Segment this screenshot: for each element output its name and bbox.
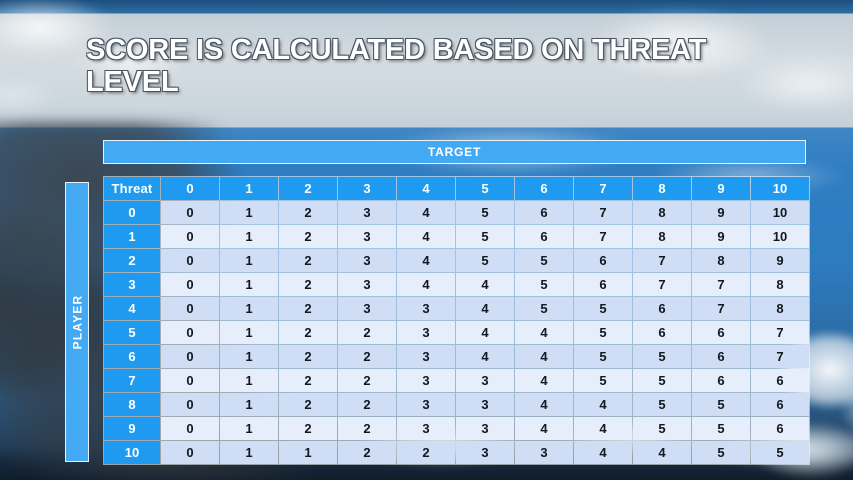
matrix-cell-4-6: 5 bbox=[515, 297, 573, 320]
matrix-cell-0-2: 2 bbox=[279, 201, 337, 224]
matrix-cell-9-1: 1 bbox=[220, 417, 278, 440]
matrix-cell-8-5: 3 bbox=[456, 393, 514, 416]
matrix-row-header-2: 2 bbox=[104, 249, 160, 272]
table-row: 301234456778 bbox=[104, 273, 809, 296]
matrix-cell-4-10: 8 bbox=[751, 297, 809, 320]
table-row: 601223445567 bbox=[104, 345, 809, 368]
matrix-cell-0-1: 1 bbox=[220, 201, 278, 224]
matrix-cell-4-0: 0 bbox=[161, 297, 219, 320]
matrix-cell-1-9: 9 bbox=[692, 225, 750, 248]
matrix-cell-8-0: 0 bbox=[161, 393, 219, 416]
matrix-column-header-1: 1 bbox=[220, 177, 278, 200]
matrix-cell-5-1: 1 bbox=[220, 321, 278, 344]
matrix-cell-10-1: 1 bbox=[220, 441, 278, 464]
matrix-cell-6-0: 0 bbox=[161, 345, 219, 368]
matrix-column-header-2: 2 bbox=[279, 177, 337, 200]
matrix-column-header-9: 9 bbox=[692, 177, 750, 200]
matrix-row-header-6: 6 bbox=[104, 345, 160, 368]
matrix-cell-6-4: 3 bbox=[397, 345, 455, 368]
matrix-cell-10-8: 4 bbox=[633, 441, 691, 464]
matrix-cell-4-4: 3 bbox=[397, 297, 455, 320]
table-row: 501223445667 bbox=[104, 321, 809, 344]
matrix-column-header-8: 8 bbox=[633, 177, 691, 200]
matrix-cell-7-8: 5 bbox=[633, 369, 691, 392]
player-axis-banner: PLAYER bbox=[65, 182, 89, 462]
matrix-cell-9-6: 4 bbox=[515, 417, 573, 440]
matrix-cell-10-7: 4 bbox=[574, 441, 632, 464]
target-axis-label: TARGET bbox=[428, 145, 481, 159]
matrix-cell-7-0: 0 bbox=[161, 369, 219, 392]
matrix-cell-7-1: 1 bbox=[220, 369, 278, 392]
matrix-column-header-5: 5 bbox=[456, 177, 514, 200]
matrix-cell-4-3: 3 bbox=[338, 297, 396, 320]
matrix-cell-3-5: 4 bbox=[456, 273, 514, 296]
matrix-cell-5-7: 5 bbox=[574, 321, 632, 344]
matrix-cell-5-8: 6 bbox=[633, 321, 691, 344]
matrix-cell-7-4: 3 bbox=[397, 369, 455, 392]
matrix-cell-0-5: 5 bbox=[456, 201, 514, 224]
matrix-cell-3-8: 7 bbox=[633, 273, 691, 296]
matrix-cell-6-1: 1 bbox=[220, 345, 278, 368]
matrix-cell-4-8: 6 bbox=[633, 297, 691, 320]
matrix-cell-8-7: 4 bbox=[574, 393, 632, 416]
matrix-cell-8-3: 2 bbox=[338, 393, 396, 416]
matrix-cell-5-9: 6 bbox=[692, 321, 750, 344]
page-title: SCORE IS CALCULATED BASED ON THREAT LEVE… bbox=[86, 34, 726, 99]
matrix-cell-0-3: 3 bbox=[338, 201, 396, 224]
matrix-cell-10-5: 3 bbox=[456, 441, 514, 464]
matrix-cell-4-7: 5 bbox=[574, 297, 632, 320]
matrix-cell-9-10: 6 bbox=[751, 417, 809, 440]
matrix-cell-2-8: 7 bbox=[633, 249, 691, 272]
matrix-cell-8-8: 5 bbox=[633, 393, 691, 416]
matrix-cell-7-5: 3 bbox=[456, 369, 514, 392]
matrix-cell-2-1: 1 bbox=[220, 249, 278, 272]
matrix-column-header-10: 10 bbox=[751, 177, 809, 200]
matrix-cell-2-2: 2 bbox=[279, 249, 337, 272]
matrix-cell-6-9: 6 bbox=[692, 345, 750, 368]
matrix-column-header-4: 4 bbox=[397, 177, 455, 200]
matrix-cell-2-4: 4 bbox=[397, 249, 455, 272]
matrix-cell-1-7: 7 bbox=[574, 225, 632, 248]
matrix-row-header-1: 1 bbox=[104, 225, 160, 248]
matrix-cell-10-0: 0 bbox=[161, 441, 219, 464]
matrix-cell-7-3: 2 bbox=[338, 369, 396, 392]
matrix-cell-3-3: 3 bbox=[338, 273, 396, 296]
table-row: 701223345566 bbox=[104, 369, 809, 392]
matrix-cell-2-7: 6 bbox=[574, 249, 632, 272]
table-row: 201234556789 bbox=[104, 249, 809, 272]
matrix-cell-5-0: 0 bbox=[161, 321, 219, 344]
matrix-row-header-0: 0 bbox=[104, 201, 160, 224]
matrix-cell-4-2: 2 bbox=[279, 297, 337, 320]
matrix-cell-6-10: 7 bbox=[751, 345, 809, 368]
matrix-cell-5-5: 4 bbox=[456, 321, 514, 344]
matrix-row-header-5: 5 bbox=[104, 321, 160, 344]
matrix-cell-6-5: 4 bbox=[456, 345, 514, 368]
matrix-cell-3-6: 5 bbox=[515, 273, 573, 296]
table-row: 401233455678 bbox=[104, 297, 809, 320]
matrix-cell-0-0: 0 bbox=[161, 201, 219, 224]
matrix-row-header-3: 3 bbox=[104, 273, 160, 296]
matrix-cell-4-5: 4 bbox=[456, 297, 514, 320]
matrix-cell-10-2: 1 bbox=[279, 441, 337, 464]
table-row: 1012345678910 bbox=[104, 225, 809, 248]
matrix-cell-10-4: 2 bbox=[397, 441, 455, 464]
matrix-column-header-0: 0 bbox=[161, 177, 219, 200]
matrix-cell-6-3: 2 bbox=[338, 345, 396, 368]
matrix-row-header-9: 9 bbox=[104, 417, 160, 440]
matrix-cell-8-2: 2 bbox=[279, 393, 337, 416]
matrix-cell-2-5: 5 bbox=[456, 249, 514, 272]
matrix-cell-6-2: 2 bbox=[279, 345, 337, 368]
matrix-cell-7-7: 5 bbox=[574, 369, 632, 392]
matrix-cell-0-9: 9 bbox=[692, 201, 750, 224]
matrix-cell-8-1: 1 bbox=[220, 393, 278, 416]
matrix-cell-3-7: 6 bbox=[574, 273, 632, 296]
matrix-cell-8-4: 3 bbox=[397, 393, 455, 416]
matrix-cell-1-10: 10 bbox=[751, 225, 809, 248]
matrix-row-header-8: 8 bbox=[104, 393, 160, 416]
matrix-cell-0-4: 4 bbox=[397, 201, 455, 224]
matrix-row-header-10: 10 bbox=[104, 441, 160, 464]
matrix-cell-8-10: 6 bbox=[751, 393, 809, 416]
matrix-header-row: Threat012345678910 bbox=[104, 177, 809, 200]
matrix-cell-5-2: 2 bbox=[279, 321, 337, 344]
matrix-cell-9-8: 5 bbox=[633, 417, 691, 440]
matrix-cell-0-10: 10 bbox=[751, 201, 809, 224]
matrix-cell-4-9: 7 bbox=[692, 297, 750, 320]
matrix-cell-0-6: 6 bbox=[515, 201, 573, 224]
matrix-cell-1-8: 8 bbox=[633, 225, 691, 248]
matrix-cell-8-6: 4 bbox=[515, 393, 573, 416]
matrix-column-header-7: 7 bbox=[574, 177, 632, 200]
table-row: 901223344556 bbox=[104, 417, 809, 440]
matrix-cell-3-0: 0 bbox=[161, 273, 219, 296]
matrix-cell-5-3: 2 bbox=[338, 321, 396, 344]
player-axis-label: PLAYER bbox=[70, 295, 84, 350]
matrix-corner-header: Threat bbox=[104, 177, 160, 200]
matrix-cell-5-6: 4 bbox=[515, 321, 573, 344]
matrix-cell-7-2: 2 bbox=[279, 369, 337, 392]
matrix-cell-7-6: 4 bbox=[515, 369, 573, 392]
matrix-cell-5-10: 7 bbox=[751, 321, 809, 344]
matrix-row-header-7: 7 bbox=[104, 369, 160, 392]
matrix-cell-1-4: 4 bbox=[397, 225, 455, 248]
matrix-cell-2-10: 9 bbox=[751, 249, 809, 272]
matrix-cell-3-9: 7 bbox=[692, 273, 750, 296]
matrix-cell-7-10: 6 bbox=[751, 369, 809, 392]
table-row: 801223344556 bbox=[104, 393, 809, 416]
matrix-cell-10-6: 3 bbox=[515, 441, 573, 464]
matrix-column-header-3: 3 bbox=[338, 177, 396, 200]
matrix-cell-1-1: 1 bbox=[220, 225, 278, 248]
matrix-cell-9-7: 4 bbox=[574, 417, 632, 440]
matrix-cell-9-3: 2 bbox=[338, 417, 396, 440]
matrix-cell-0-8: 8 bbox=[633, 201, 691, 224]
matrix-cell-5-4: 3 bbox=[397, 321, 455, 344]
matrix-cell-10-3: 2 bbox=[338, 441, 396, 464]
matrix-cell-0-7: 7 bbox=[574, 201, 632, 224]
matrix-cell-8-9: 5 bbox=[692, 393, 750, 416]
matrix-cell-1-3: 3 bbox=[338, 225, 396, 248]
matrix-cell-1-5: 5 bbox=[456, 225, 514, 248]
matrix-column-header-6: 6 bbox=[515, 177, 573, 200]
matrix-cell-2-0: 0 bbox=[161, 249, 219, 272]
matrix-cell-1-6: 6 bbox=[515, 225, 573, 248]
matrix-cell-10-10: 5 bbox=[751, 441, 809, 464]
matrix-cell-9-2: 2 bbox=[279, 417, 337, 440]
matrix-cell-1-2: 2 bbox=[279, 225, 337, 248]
matrix-cell-1-0: 0 bbox=[161, 225, 219, 248]
matrix-cell-10-9: 5 bbox=[692, 441, 750, 464]
table-row: 1001122334455 bbox=[104, 441, 809, 464]
slide-canvas: SCORE IS CALCULATED BASED ON THREAT LEVE… bbox=[0, 0, 853, 480]
matrix-cell-9-5: 3 bbox=[456, 417, 514, 440]
matrix-cell-2-6: 5 bbox=[515, 249, 573, 272]
matrix-cell-6-6: 4 bbox=[515, 345, 573, 368]
matrix-cell-3-10: 8 bbox=[751, 273, 809, 296]
matrix-cell-3-2: 2 bbox=[279, 273, 337, 296]
matrix-cell-9-0: 0 bbox=[161, 417, 219, 440]
matrix-cell-9-4: 3 bbox=[397, 417, 455, 440]
matrix-cell-2-9: 8 bbox=[692, 249, 750, 272]
matrix-cell-3-1: 1 bbox=[220, 273, 278, 296]
matrix-cell-4-1: 1 bbox=[220, 297, 278, 320]
target-axis-banner: TARGET bbox=[103, 140, 806, 164]
score-matrix-table: Threat012345678910 001234567891010123456… bbox=[103, 176, 810, 465]
matrix-cell-7-9: 6 bbox=[692, 369, 750, 392]
matrix-cell-9-9: 5 bbox=[692, 417, 750, 440]
matrix-cell-6-8: 5 bbox=[633, 345, 691, 368]
matrix-cell-2-3: 3 bbox=[338, 249, 396, 272]
matrix-cell-3-4: 4 bbox=[397, 273, 455, 296]
matrix-row-header-4: 4 bbox=[104, 297, 160, 320]
table-row: 0012345678910 bbox=[104, 201, 809, 224]
matrix-cell-6-7: 5 bbox=[574, 345, 632, 368]
